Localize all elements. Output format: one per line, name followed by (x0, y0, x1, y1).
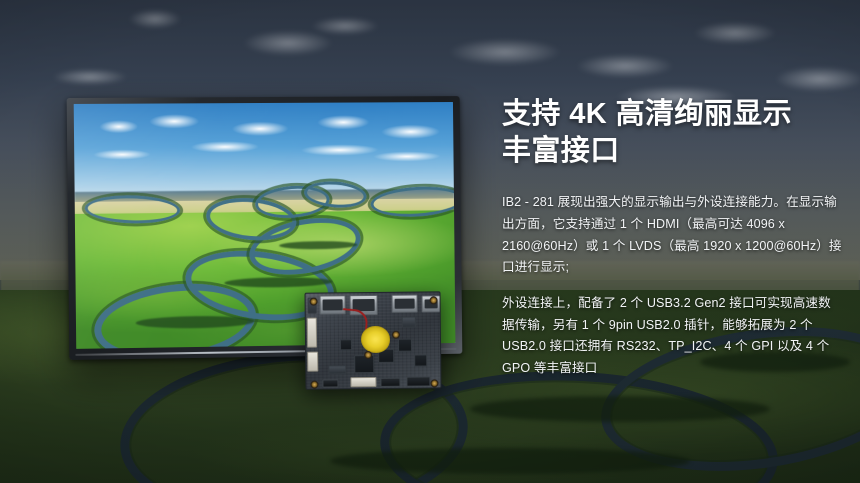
lvds-connector (307, 318, 317, 348)
smd-component (402, 317, 416, 328)
standoff-hole (392, 331, 400, 339)
sata-header (406, 376, 430, 386)
paragraph-peripheral-io: 外设连接上，配备了 2 个 USB3.2 Gen2 接口可实现高速数据传输，另有… (502, 293, 842, 380)
page-title: 支持 4K 高清绚丽显示 丰富接口 (502, 96, 842, 170)
pin-header-black (380, 378, 400, 387)
standoff-hole (364, 351, 372, 359)
mounting-hole (310, 298, 318, 306)
mounting-hole (430, 296, 438, 304)
pin-header-black (322, 379, 338, 387)
io-chip (414, 354, 427, 366)
hdmi-port (392, 295, 418, 313)
pin-header-white (350, 377, 376, 387)
paragraph-display-output: IB2 - 281 展现出强大的显示输出与外设连接能力。在显示输出方面，它支持通… (502, 192, 842, 279)
slide-canvas: 支持 4K 高清绚丽显示 丰富接口 IB2 - 281 展现出强大的显示输出与外… (0, 0, 860, 483)
pcb-substrate (304, 291, 441, 389)
smd-component (328, 365, 346, 374)
motherboard-product-image (304, 291, 441, 389)
controller-chip (398, 339, 412, 352)
regulator-chip (340, 339, 352, 350)
text-panel: 支持 4K 高清绚丽显示 丰富接口 IB2 - 281 展现出强大的显示输出与外… (502, 96, 842, 379)
panel-power-connector (307, 352, 318, 372)
mounting-hole (310, 381, 318, 389)
coin-cell-battery (361, 326, 390, 353)
mounting-hole (430, 379, 438, 387)
body-copy: IB2 - 281 展现出强大的显示输出与外设连接能力。在显示输出方面，它支持通… (502, 192, 842, 379)
